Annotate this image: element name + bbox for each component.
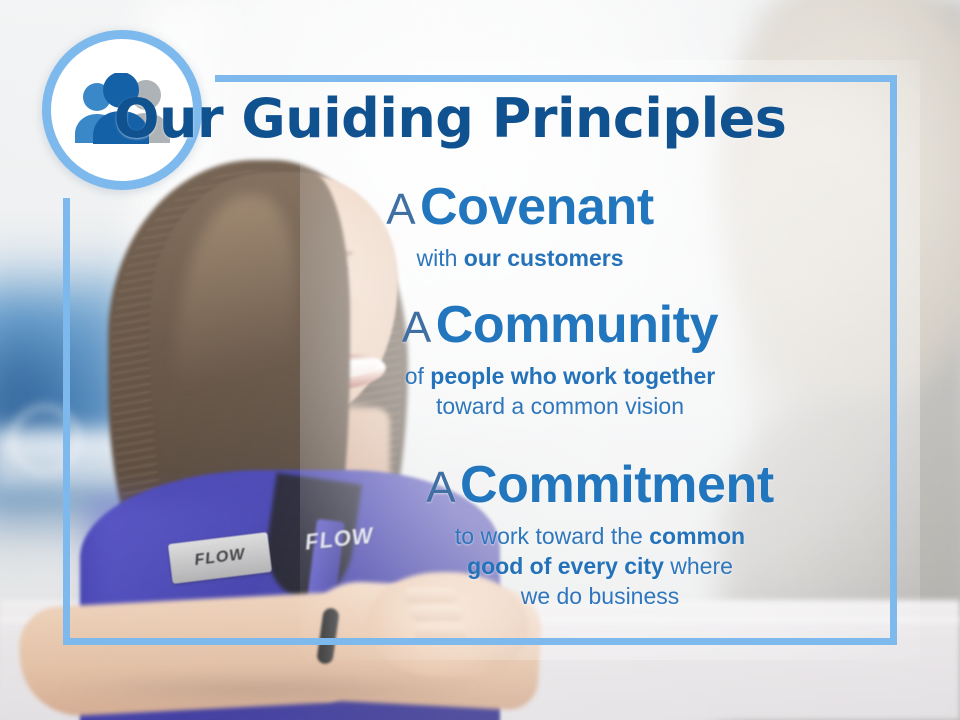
principle-article: A: [426, 463, 455, 512]
principle-keyword: Community: [436, 296, 718, 354]
subtext-line: good of every city where: [290, 551, 910, 581]
principle-heading: A Community: [250, 298, 870, 353]
subtext-emphasis: good of every city: [467, 553, 664, 579]
subtext-run: where: [664, 553, 733, 579]
principle-block-community: A Community of people who work togethert…: [250, 298, 870, 421]
subtext-line: toward a common vision: [250, 391, 870, 421]
page-title: Our Guiding Principles: [0, 92, 900, 146]
subtext-run: toward a common vision: [436, 393, 684, 419]
principle-subtext: of people who work togethertoward a comm…: [250, 361, 870, 422]
subtext-emphasis: common: [649, 523, 745, 549]
principle-keyword: Covenant: [420, 178, 654, 236]
subtext-emphasis: our customers: [464, 245, 624, 271]
subtext-run: we do business: [521, 583, 680, 609]
principle-block-covenant: A Covenant with our customers: [210, 180, 830, 273]
subtext-line: we do business: [290, 581, 910, 611]
principle-heading: A Covenant: [210, 180, 830, 235]
subtext-run: of: [405, 363, 431, 389]
principle-subtext: with our customers: [210, 243, 830, 273]
principle-article: A: [386, 185, 415, 234]
subtext-run: to work toward the: [455, 523, 649, 549]
marketing-graphic: FLOW FLOW: [0, 0, 960, 720]
principle-block-commitment: A Commitment to work toward the commongo…: [290, 458, 910, 612]
text-content: Our Guiding Principles A Covenant with o…: [0, 0, 960, 720]
principle-article: A: [402, 303, 431, 352]
subtext-emphasis: people who work together: [430, 363, 715, 389]
subtext-line: of people who work together: [250, 361, 870, 391]
subtext-line: with our customers: [210, 243, 830, 273]
principle-heading: A Commitment: [290, 458, 910, 513]
principle-subtext: to work toward the commongood of every c…: [290, 521, 910, 612]
subtext-run: with: [416, 245, 463, 271]
principle-keyword: Commitment: [460, 456, 774, 514]
subtext-line: to work toward the common: [290, 521, 910, 551]
